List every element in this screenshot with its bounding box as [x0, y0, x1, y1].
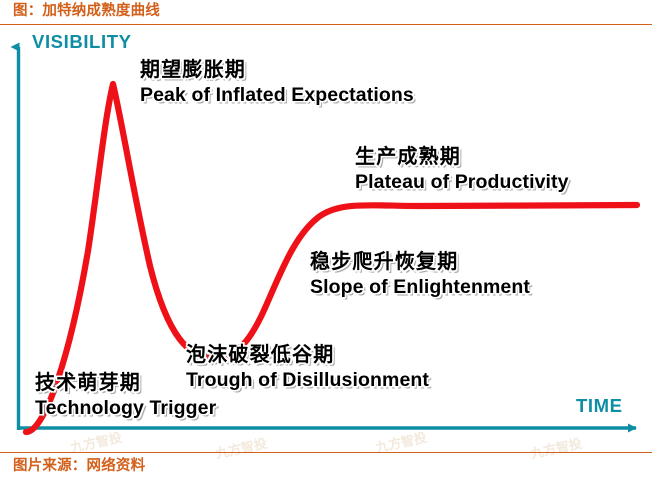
annotation-trough-en: Trough of Disillusionment	[186, 368, 429, 393]
annotation-trigger-en: Technology Trigger	[35, 396, 216, 421]
annotation-peak: 期望膨胀期 Peak of Inflated Expectations	[140, 58, 414, 108]
x-axis-title: TIME	[576, 395, 623, 417]
hype-curve-figure: 九方智投 九方智投 九方智投 九方智投 图：加特纳成熟度曲线 VISIBILIT…	[0, 0, 652, 481]
annotation-trough-cn: 泡沫破裂低谷期	[186, 343, 429, 368]
annotation-slope-en: Slope of Enlightenment	[310, 275, 530, 300]
annotation-slope: 稳步爬升恢复期 Slope of Enlightenment	[310, 250, 530, 300]
annotation-slope-cn: 稳步爬升恢复期	[310, 250, 530, 275]
annotation-trigger-cn: 技术萌芽期	[35, 371, 216, 396]
figure-title-bar: 图：加特纳成熟度曲线	[0, 0, 652, 26]
footer-divider	[0, 452, 652, 453]
source-caption: 图片来源：网络资料	[13, 456, 145, 477]
annotation-trigger: 技术萌芽期 Technology Trigger	[35, 371, 216, 421]
annotation-plateau: 生产成熟期 Plateau of Productivity	[355, 145, 569, 195]
annotation-peak-cn: 期望膨胀期	[140, 58, 414, 83]
annotation-plateau-en: Plateau of Productivity	[355, 170, 569, 195]
annotation-trough: 泡沫破裂低谷期 Trough of Disillusionment	[186, 343, 429, 393]
annotation-peak-en: Peak of Inflated Expectations	[140, 83, 414, 108]
annotation-plateau-cn: 生产成熟期	[355, 145, 569, 170]
page-title: 图：加特纳成熟度曲线	[13, 1, 160, 22]
y-axis-title: VISIBILITY	[32, 31, 132, 53]
